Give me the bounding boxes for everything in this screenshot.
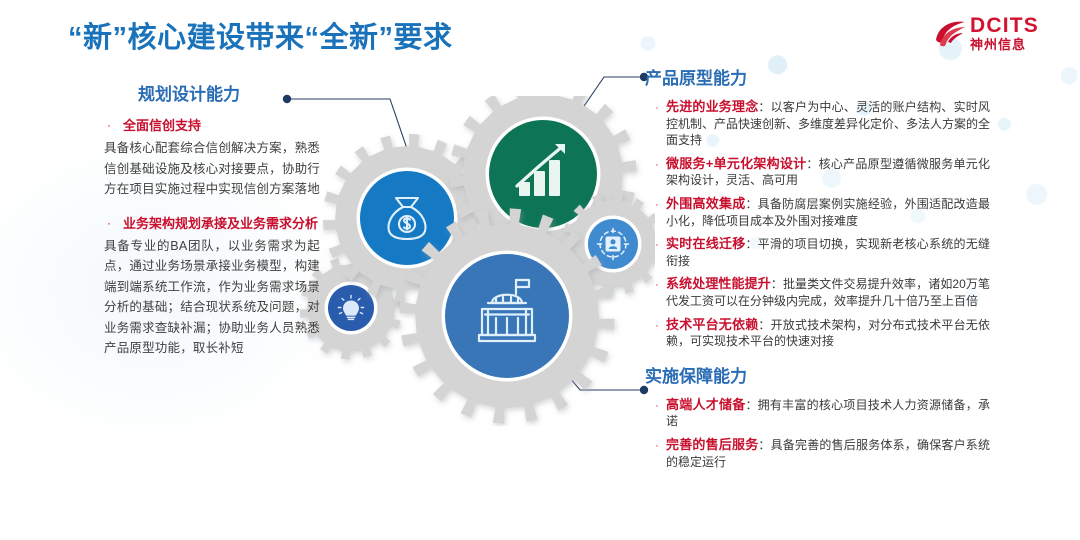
dcits-swoosh-icon xyxy=(934,18,968,48)
section-heading-implementation-assurance: 实施保障能力 xyxy=(645,366,990,388)
section-heading-product-prototype: 产品原型能力 xyxy=(645,68,990,90)
left-item-1-body: 具备核心配套综合信创解决方案，熟悉信创基础设施及核心对接要点，协助行方在项目实施… xyxy=(104,138,320,200)
bullet-marker-icon: · xyxy=(645,196,666,229)
right-s2-item-1: · 高端人才储备：拥有丰富的核心项目技术人力资源储备，承诺 xyxy=(645,397,990,430)
right-s1-item-6-key: 技术平台无依赖 xyxy=(666,317,758,332)
right-s2-item-1-key: 高端人才储备 xyxy=(666,397,745,412)
right-s1-item-4-key: 实时在线迁移 xyxy=(666,236,745,251)
section-product-prototype: 产品原型能力 · 先进的业务理念：以客户为中心、灵活的账户结构、实时风控机制、产… xyxy=(645,68,990,350)
right-s1-item-2-key: 微服务+单元化架构设计 xyxy=(666,156,806,171)
bullet-marker-icon: · xyxy=(645,437,666,470)
bullet-marker-icon: · xyxy=(645,236,666,269)
right-s1-item-3: · 外围高效集成：具备防腐层案例实施经验，外围适配改造最小化，降低项目成本及外围… xyxy=(645,196,990,229)
left-column: 规划设计能力 · 全面信创支持 具备核心配套综合信创解决方案，熟悉信创基础设施及… xyxy=(104,84,320,373)
section-implementation-assurance: 实施保障能力 · 高端人才储备：拥有丰富的核心项目技术人力资源储备，承诺 · 完… xyxy=(645,366,990,470)
left-item-2: · 业务架构规划承接及业务需求分析 具备专业的BA团队，以业务需求为起点，通过业… xyxy=(104,214,320,359)
right-s1-item-5-key: 系统处理性能提升 xyxy=(666,276,771,291)
section-heading-planning: 规划设计能力 xyxy=(104,84,320,106)
slide-canvas: “新”核心建设带来“全新”要求 DCITS 神州信息 xyxy=(0,0,1080,540)
right-column: 产品原型能力 · 先进的业务理念：以客户为中心、灵活的账户结构、实时风控机制、产… xyxy=(645,68,990,477)
right-s2-item-2: · 完善的售后服务：具备完善的售后服务体系，确保客户系统的稳定运行 xyxy=(645,437,990,470)
left-item-1: · 全面信创支持 具备核心配套综合信创解决方案，熟悉信创基础设施及核心对接要点，… xyxy=(104,116,320,200)
logo-text: DCITS 神州信息 xyxy=(970,15,1039,52)
left-item-1-key: 全面信创支持 xyxy=(123,116,201,135)
bullet-marker-icon: · xyxy=(645,397,666,430)
bullet-marker-icon: · xyxy=(645,99,666,149)
bullet-marker-icon: · xyxy=(645,156,666,189)
right-s1-item-5: · 系统处理性能提升：批量类文件交易提升效率，诸如20万笔代发工资可以在分钟级内… xyxy=(645,276,990,309)
right-s2-item-2-key: 完善的售后服务 xyxy=(666,437,758,452)
right-s1-item-3-key: 外围高效集成 xyxy=(666,196,745,211)
right-s1-item-4: · 实时在线迁移：平滑的项目切换，实现新老核心系统的无缝衔接 xyxy=(645,236,990,269)
right-s1-item-1-key: 先进的业务理念 xyxy=(666,99,758,114)
right-s1-item-2: · 微服务+单元化架构设计：核心产品原型遵循微服务单元化架构设计，灵活、高可用 xyxy=(645,156,990,189)
right-s1-item-6: · 技术平台无依赖：开放式技术架构，对分布式技术平台无依赖，可实现技术平台的快速… xyxy=(645,317,990,350)
gear-cluster-graphic xyxy=(295,96,655,426)
bullet-marker-icon: · xyxy=(645,276,666,309)
brand-logo: DCITS 神州信息 xyxy=(934,14,1066,58)
right-s1-item-1: · 先进的业务理念：以客户为中心、灵活的账户结构、实时风控机制、产品快速创新、多… xyxy=(645,99,990,149)
left-item-2-body: 具备专业的BA团队，以业务需求为起点，通过业务场景承接业务模型，构建端到端系统工… xyxy=(104,236,320,359)
bullet-marker-icon: · xyxy=(645,317,666,350)
logo-en-text: DCITS xyxy=(970,15,1039,37)
left-item-2-key: 业务架构规划承接及业务需求分析 xyxy=(123,214,320,233)
logo-cn-text: 神州信息 xyxy=(970,37,1039,52)
bullet-marker-icon: · xyxy=(104,116,123,135)
page-title: “新”核心建设带来“全新”要求 xyxy=(68,14,453,56)
bullet-marker-icon: · xyxy=(104,214,123,233)
